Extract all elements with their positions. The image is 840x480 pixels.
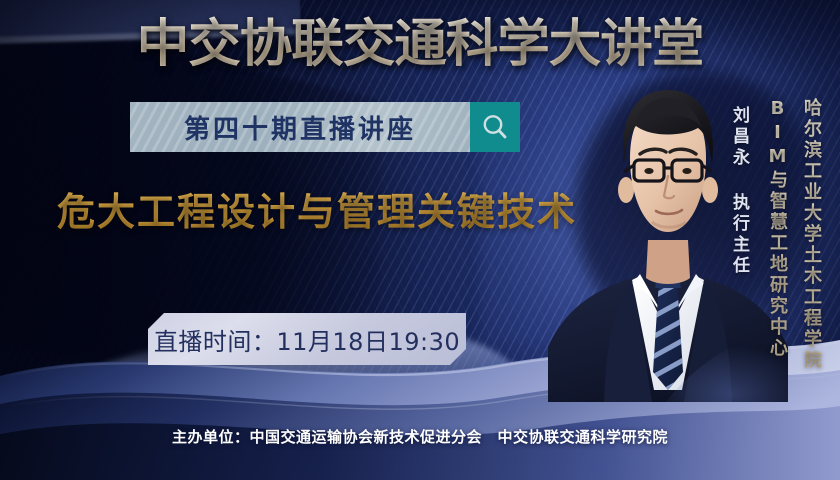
subtitle-banner-label: 第四十期直播讲座 bbox=[184, 109, 416, 146]
speaker-name-title: 刘昌永 执行主任 bbox=[727, 106, 752, 277]
speaker-portrait bbox=[548, 72, 788, 402]
affiliation-line-2: BIM与智慧工地研究中心 bbox=[764, 98, 790, 359]
affiliation-line-1: 哈尔滨工业大学土木工程学院 bbox=[798, 98, 824, 371]
subtitle-banner: 第四十期直播讲座 bbox=[130, 102, 520, 152]
lecture-title: 危大工程设计与管理关键技术 bbox=[57, 186, 577, 238]
main-title: 中交协联交通科学大讲堂 bbox=[111, 14, 729, 76]
search-icon[interactable] bbox=[470, 102, 520, 152]
live-time-banner: 直播时间：11月18日19:30 bbox=[148, 313, 466, 365]
live-lecture-poster: 中交协联交通科学大讲堂 中交协联交通科学大讲堂 第四十期直播讲座 危大工程设计与… bbox=[0, 0, 840, 480]
organizer-footer: 主办单位：中国交通运输协会新技术促进分会 中交协联交通科学研究院 bbox=[0, 426, 840, 447]
subtitle-banner-body: 第四十期直播讲座 bbox=[130, 102, 470, 152]
live-time-text: 直播时间：11月18日19:30 bbox=[154, 322, 460, 357]
